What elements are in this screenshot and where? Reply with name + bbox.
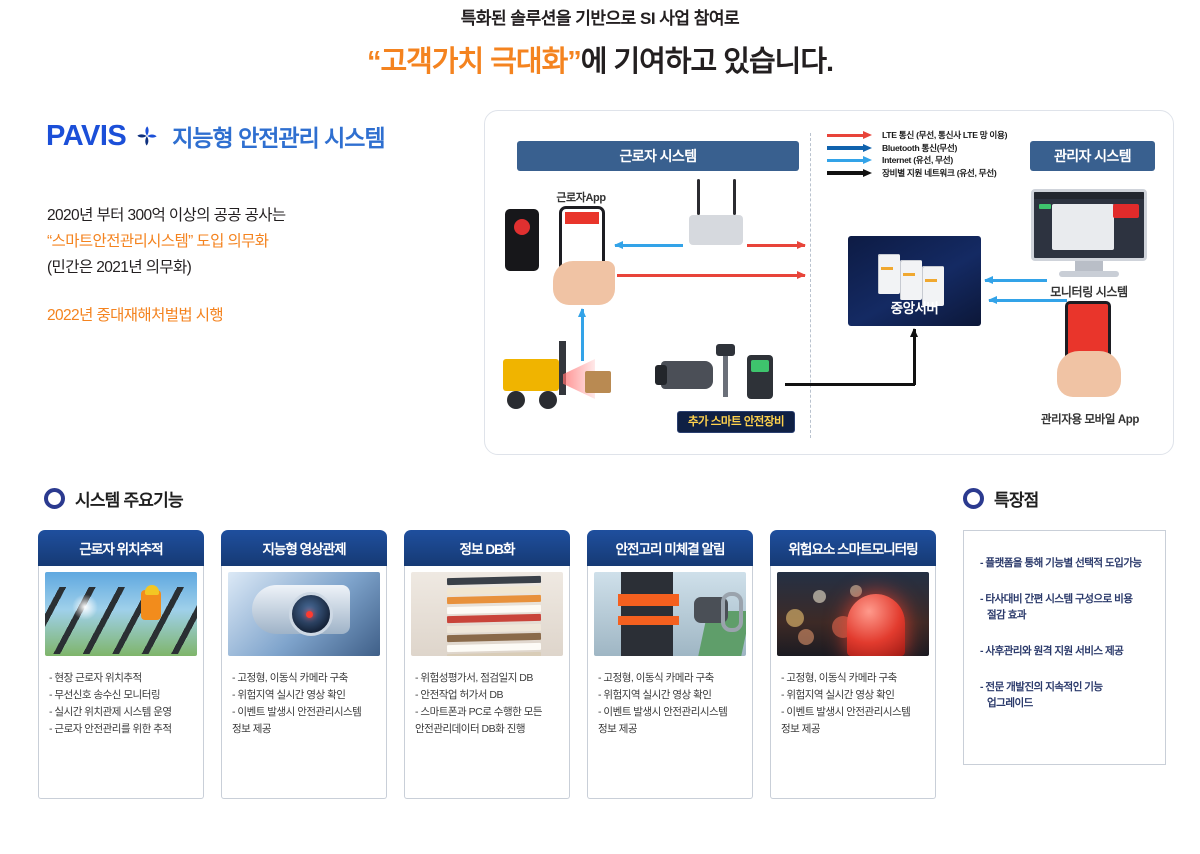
left-line-4: 2022년 중대재해처벌법 시행 — [47, 303, 447, 329]
central-server-label: 중앙서버 — [848, 297, 981, 317]
feature-card-title: 안전고리 미체결 알림 — [587, 530, 753, 566]
header-title-quote: “고객가치 극대화” — [367, 46, 581, 78]
bullet-item: 정보 제공 — [781, 721, 923, 738]
circle-icon — [44, 488, 65, 509]
circle-icon — [963, 488, 984, 509]
diagram-legend: LTE 통신 (무선, 통신사 LTE 망 이용) Bluetooth 통신(무… — [827, 129, 1007, 179]
features-section-heading: 시스템 주요기능 — [44, 486, 183, 511]
features-section-title: 시스템 주요기능 — [75, 486, 183, 511]
feature-bullet-list: - 고정형, 이동식 카메라 구축 - 위험지역 실시간 영상 확인 - 이벤트… — [228, 656, 380, 738]
arrow-router-to-phone — [615, 244, 683, 247]
feature-card-body: - 현장 근로자 위치추적 - 무선신호 송수신 모니터링 - 실시간 위치관제… — [38, 566, 204, 799]
bullet-item: - 이벤트 발생시 안전관리시스템 — [232, 704, 374, 721]
feature-card-title: 근로자 위치추적 — [38, 530, 204, 566]
bullet-item: - 안전작업 허가서 DB — [415, 687, 557, 704]
legend-label: Bluetooth 통신(무선) — [882, 142, 957, 154]
brand-title: 지능형 안전관리 시스템 — [172, 119, 384, 153]
monitor-stand — [1075, 261, 1103, 271]
forklift-illustration — [497, 341, 593, 409]
pinwheel-icon — [134, 123, 160, 149]
admin-mobile-phone — [1057, 301, 1121, 393]
bullet-item: - 이벤트 발생시 안전관리시스템 — [781, 704, 923, 721]
legend-label: Internet (유선, 무선) — [882, 154, 953, 166]
bullet-item: - 무선신호 송수신 모니터링 — [49, 687, 191, 704]
arrow-router-to-server-lte — [747, 244, 805, 247]
arrow-icon — [827, 131, 875, 139]
sensor-pole-device — [723, 353, 728, 397]
left-line-3: (민간은 2021년 의무화) — [47, 255, 447, 281]
legend-label: 장비별 지원 네트워크 (유선, 무선) — [882, 167, 996, 179]
header-subtitle: 특화된 솔루션을 기반으로 SI 사업 참여로 — [0, 4, 1200, 29]
diagram-divider — [810, 133, 811, 438]
advantage-item: - 전문 개발진의 지속적인 기능 업그레이드 — [980, 679, 1149, 711]
feature-card[interactable]: 위험요소 스마트모니터링 - 고정형, 이동식 카메라 구축 - 위험지역 실시… — [770, 530, 936, 799]
legend-item: 장비별 지원 네트워크 (유선, 무선) — [827, 167, 1007, 180]
advantages-section-title: 특장점 — [994, 486, 1039, 511]
gateway-router-device — [689, 215, 743, 245]
slide-root: 특화된 솔루션을 기반으로 SI 사업 참여로 “고객가치 극대화”에 기여하고… — [0, 0, 1200, 854]
cctv-camera-photo — [228, 572, 380, 656]
brand-row: PAVIS 지능형 안전관리 시스템 — [46, 119, 385, 153]
header-title: “고객가치 극대화”에 기여하고 있습니다. — [0, 38, 1200, 80]
feature-card-body: - 고정형, 이동식 카메라 구축 - 위험지역 실시간 영상 확인 - 이벤트… — [770, 566, 936, 799]
bullet-item: 정보 제공 — [232, 721, 374, 738]
spacer — [47, 281, 447, 303]
advantage-item: - 플랫폼을 통해 기능별 선택적 도입가능 — [980, 555, 1149, 571]
arrow-icon — [827, 144, 875, 152]
feature-bullet-list: - 고정형, 이동식 카메라 구축 - 위험지역 실시간 영상 확인 - 이벤트… — [594, 656, 746, 738]
bullet-item: - 고정형, 이동식 카메라 구축 — [232, 670, 374, 687]
feature-card[interactable]: 지능형 영상관제 - 고정형, 이동식 카메라 구축 - 위험지역 실시간 영상… — [221, 530, 387, 799]
slide-header: 특화된 솔루션을 기반으로 SI 사업 참여로 “고객가치 극대화”에 기여하고… — [0, 0, 1200, 80]
arrow-phone-to-server-lte — [617, 274, 805, 277]
safety-harness-hook-photo — [594, 572, 746, 656]
advantage-item: - 사후관리와 원격 지원 서비스 제공 — [980, 643, 1149, 659]
arrow-forklift-to-phone — [581, 309, 584, 361]
bullet-item: - 현장 근로자 위치추적 — [49, 670, 191, 687]
diagram-tab-admin-system: 관리자 시스템 — [1030, 141, 1155, 171]
bullet-item: 정보 제공 — [598, 721, 740, 738]
emergency-siren-light-photo — [777, 572, 929, 656]
advantages-panel: - 플랫폼을 통해 기능별 선택적 도입가능 - 타사대비 간편 시스템 구성으… — [963, 530, 1166, 765]
smart-equipment-badge: 추가 스마트 안전장비 — [677, 411, 795, 433]
construction-worker-bridge-photo — [45, 572, 197, 656]
legend-item: LTE 통신 (무선, 통신사 LTE 망 이용) — [827, 129, 1007, 142]
diagram-tab-worker-system: 근로자 시스템 — [517, 141, 799, 171]
monitoring-system-label: 모니터링 시스템 — [1031, 283, 1147, 300]
feature-card-body: - 고정형, 이동식 카메라 구축 - 위험지역 실시간 영상 확인 - 이벤트… — [221, 566, 387, 799]
worker-app-label: 근로자App — [541, 189, 621, 205]
system-architecture-diagram: 근로자 시스템 관리자 시스템 LTE 통신 (무선, 통신사 LTE 망 이용… — [484, 110, 1174, 455]
admin-mobile-app-label: 관리자용 모바일 App — [1015, 411, 1165, 427]
feature-card[interactable]: 안전고리 미체결 알림 - 고정형, 이동식 카메라 구축 - 위험지역 실시간… — [587, 530, 753, 799]
bullet-item: - 스마트폰과 PC로 수행한 모든 — [415, 704, 557, 721]
legend-item: Internet (유선, 무선) — [827, 154, 1007, 167]
pavis-logo-text: PAVIS — [46, 120, 126, 153]
advantage-item: - 타사대비 간편 시스템 구성으로 비용 절감 효과 — [980, 591, 1149, 623]
hand-illustration — [553, 261, 615, 305]
arrow-server-to-monitor — [985, 279, 1047, 282]
feature-card-title: 위험요소 스마트모니터링 — [770, 530, 936, 566]
left-description: 2020년 부터 300억 이상의 공공 공사는 “스마트안전관리시스템” 도입… — [47, 203, 447, 329]
feature-card-body: - 고정형, 이동식 카메라 구축 - 위험지역 실시간 영상 확인 - 이벤트… — [587, 566, 753, 799]
feature-card[interactable]: 근로자 위치추적 - 현장 근로자 위치추적 - 무선신호 송수신 모니터링 -… — [38, 530, 204, 799]
bullet-item: - 위험지역 실시간 영상 확인 — [598, 687, 740, 704]
header-title-rest: 에 기여하고 있습니다. — [581, 46, 833, 78]
feature-card-title: 정보 DB화 — [404, 530, 570, 566]
monitoring-pc-screen — [1031, 189, 1147, 261]
feature-bullet-list: - 고정형, 이동식 카메라 구축 - 위험지역 실시간 영상 확인 - 이벤트… — [777, 656, 929, 738]
bullet-item: - 이벤트 발생시 안전관리시스템 — [598, 704, 740, 721]
bullet-item: - 위험성평가서, 점검일지 DB — [415, 670, 557, 687]
document-stack-photo — [411, 572, 563, 656]
left-line-1: 2020년 부터 300억 이상의 공공 공사는 — [47, 203, 447, 229]
feature-card-list: 근로자 위치추적 - 현장 근로자 위치추적 - 무선신호 송수신 모니터링 -… — [38, 530, 936, 799]
bullet-item: - 고정형, 이동식 카메라 구축 — [781, 670, 923, 687]
arrow-equipment-line — [785, 383, 915, 386]
bullet-item: - 위험지역 실시간 영상 확인 — [781, 687, 923, 704]
gas-detector-device — [747, 355, 773, 399]
arrow-icon — [827, 169, 875, 177]
worker-beacon-device — [505, 209, 539, 271]
bullet-item: - 근로자 안전관리를 위한 추적 — [49, 721, 191, 738]
feature-card-title: 지능형 영상관제 — [221, 530, 387, 566]
advantages-section-heading: 특장점 — [963, 486, 1039, 511]
arrow-icon — [827, 156, 875, 164]
bullet-item: - 위험지역 실시간 영상 확인 — [232, 687, 374, 704]
legend-item: Bluetooth 통신(무선) — [827, 142, 1007, 155]
arrow-server-to-mobile — [989, 299, 1067, 302]
central-server-node: 중앙서버 — [848, 236, 981, 326]
monitor-base — [1059, 271, 1119, 277]
bullet-item: - 고정형, 이동식 카메라 구축 — [598, 670, 740, 687]
advantages-list: - 플랫폼을 통해 기능별 선택적 도입가능 - 타사대비 간편 시스템 구성으… — [980, 555, 1149, 711]
feature-bullet-list: - 현장 근로자 위치추적 - 무선신호 송수신 모니터링 - 실시간 위치관제… — [45, 656, 197, 738]
legend-label: LTE 통신 (무선, 통신사 LTE 망 이용) — [882, 129, 1007, 141]
feature-bullet-list: - 위험성평가서, 점검일지 DB - 안전작업 허가서 DB - 스마트폰과 … — [411, 656, 563, 738]
bullet-item: - 실시간 위치관제 시스템 운영 — [49, 704, 191, 721]
feature-card[interactable]: 정보 DB화 - 위험성평가서, 점검일지 DB - 안전작업 허가서 DB -… — [404, 530, 570, 799]
bullet-item: 안전관리데이터 DB화 진행 — [415, 721, 557, 738]
arrow-equipment-to-server — [913, 329, 916, 385]
feature-card-body: - 위험성평가서, 점검일지 DB - 안전작업 허가서 DB - 스마트폰과 … — [404, 566, 570, 799]
left-line-2: “스마트안전관리시스템” 도입 의무화 — [47, 229, 447, 255]
cctv-camera-device — [661, 361, 713, 389]
